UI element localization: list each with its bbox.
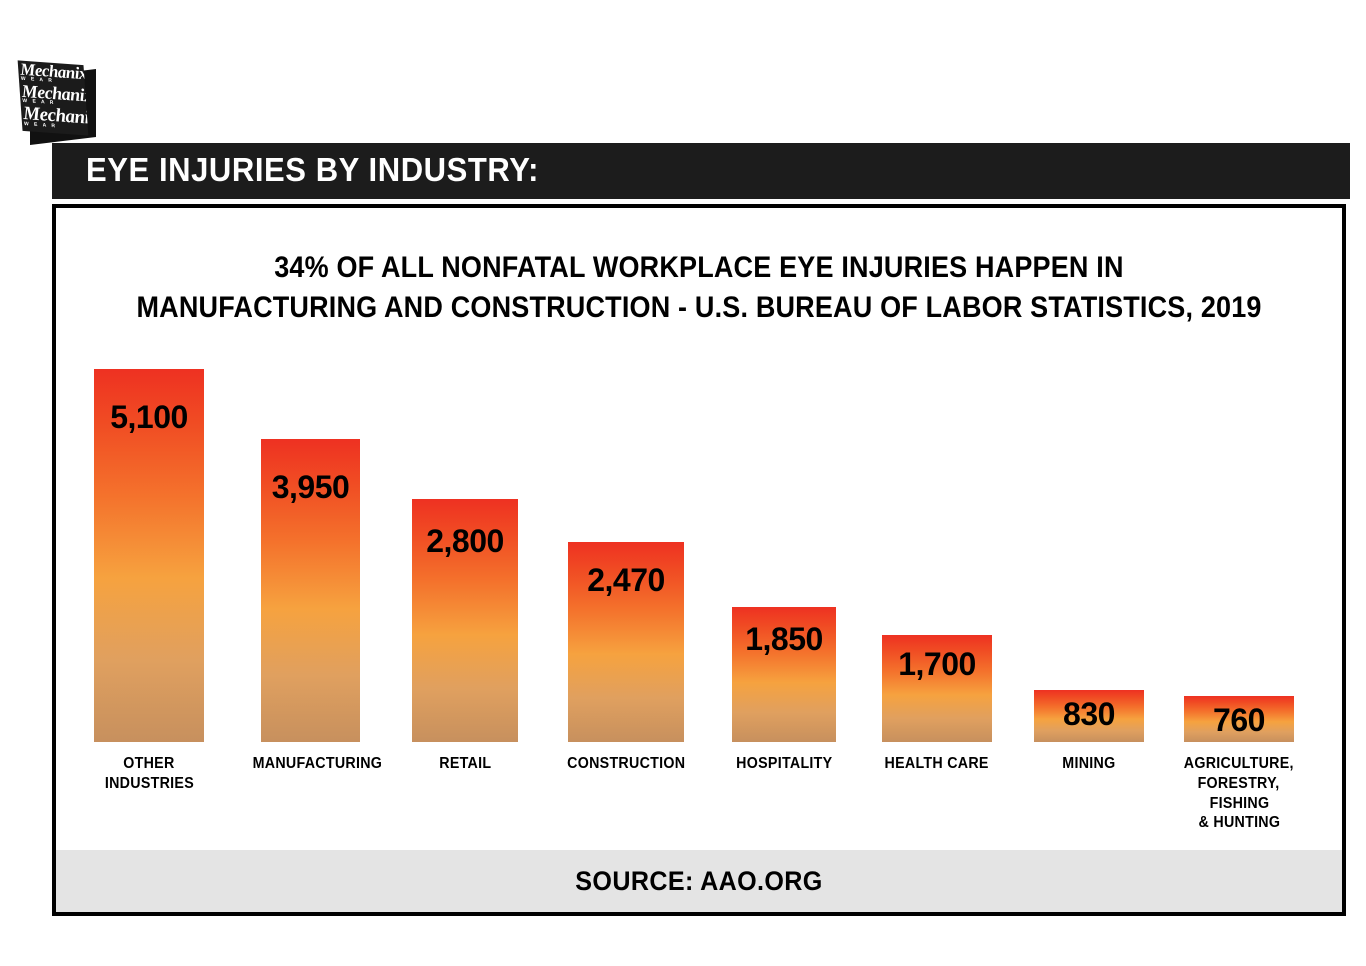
bar-category-label-line: HOSPITALITY <box>718 754 850 774</box>
bar-group: 3,950MANUFACTURING <box>261 439 360 742</box>
bar-category-label-line: OTHER <box>80 754 218 774</box>
bar-group: 2,800RETAIL <box>412 499 518 742</box>
bar-category-label: HOSPITALITY <box>718 754 850 774</box>
bar-category-label: MINING <box>1020 754 1158 774</box>
bar-chart-plot-area: 5,100OTHERINDUSTRIES3,950MANUFACTURING2,… <box>56 208 1342 912</box>
source-bar: SOURCE: AAO.ORG <box>56 850 1342 912</box>
mechanix-wear-logo: Mechanix W E A R Mechanix W E A R Mechan… <box>16 55 98 143</box>
bar-category-label-line: FISHING <box>1170 794 1308 814</box>
bar-category-label-line: RETAIL <box>398 754 532 774</box>
bar-value-label: 2,800 <box>412 523 518 560</box>
bar-value-label: 760 <box>1184 702 1294 739</box>
bar-group: 760AGRICULTURE,FORESTRY,FISHING& HUNTING <box>1184 696 1294 742</box>
bar-value-label: 5,100 <box>94 399 204 436</box>
bar-group: 1,700HEALTH CARE <box>882 635 992 742</box>
bar-category-label: MANUFACTURING <box>247 754 374 774</box>
infographic-root: Mechanix W E A R Mechanix W E A R Mechan… <box>0 0 1366 966</box>
bar-category-label-text: MINING <box>1062 754 1115 774</box>
logo-cube-face: Mechanix W E A R Mechanix W E A R Mechan… <box>18 60 89 135</box>
bar-category-label-text: & HUNTING <box>1198 813 1280 833</box>
bar-category-label-line: MANUFACTURING <box>247 754 374 774</box>
bar-category-label-line: HEALTH CARE <box>868 754 1006 774</box>
bar-category-label: AGRICULTURE,FORESTRY,FISHING& HUNTING <box>1170 754 1308 833</box>
bar-category-label: RETAIL <box>398 754 532 774</box>
logo-brand-line-3: Mechanix W E A R <box>21 104 88 131</box>
bar-category-label-text: INDUSTRIES <box>104 774 193 794</box>
bar-category-label: HEALTH CARE <box>868 754 1006 774</box>
bar-value-label: 1,700 <box>882 646 992 683</box>
bar-group: 5,100OTHERINDUSTRIES <box>94 369 204 742</box>
bar-group: 2,470CONSTRUCTION <box>568 542 684 742</box>
bar-category-label-text: CONSTRUCTION <box>567 754 685 774</box>
source-label-text: SOURCE: AAO.ORG <box>575 866 822 897</box>
bar-category-label-text: OTHER <box>123 754 174 774</box>
bar-category-label-text: FISHING <box>1209 794 1269 814</box>
bar-category-label-text: MANUFACTURING <box>253 754 383 774</box>
bar-value-label: 830 <box>1034 696 1144 733</box>
bar-group: 830MINING <box>1034 690 1144 742</box>
bar-category-label-text: HEALTH CARE <box>885 754 989 774</box>
header-title: EYE INJURIES BY INDUSTRY: <box>86 151 568 189</box>
header-band: EYE INJURIES BY INDUSTRY: <box>52 143 1350 199</box>
header-title-text: EYE INJURIES BY INDUSTRY: <box>86 151 539 189</box>
bar-category-label: CONSTRUCTION <box>554 754 698 774</box>
bar-category-label-line: INDUSTRIES <box>80 774 218 794</box>
bar-category-label-line: FORESTRY, <box>1170 774 1308 794</box>
bar-category-label-text: HOSPITALITY <box>736 754 832 774</box>
source-label: SOURCE: AAO.ORG <box>566 866 832 897</box>
bar-value-label: 1,850 <box>732 621 836 658</box>
chart-panel: 34% OF ALL NONFATAL WORKPLACE EYE INJURI… <box>52 204 1346 916</box>
bar-value-label: 2,470 <box>568 562 684 599</box>
bar-category-label-line: & HUNTING <box>1170 813 1308 833</box>
bar-category-label-text: RETAIL <box>439 754 491 774</box>
bar-group: 1,850HOSPITALITY <box>732 607 836 742</box>
bar-category-label: OTHERINDUSTRIES <box>80 754 218 794</box>
bar-category-label-line: CONSTRUCTION <box>554 754 698 774</box>
bar-category-label-line: MINING <box>1020 754 1158 774</box>
bar-value-label: 3,950 <box>261 469 360 506</box>
bar-category-label-text: FORESTRY, <box>1198 774 1280 794</box>
bar-category-label-text: AGRICULTURE, <box>1184 754 1294 774</box>
bar-category-label-line: AGRICULTURE, <box>1170 754 1308 774</box>
